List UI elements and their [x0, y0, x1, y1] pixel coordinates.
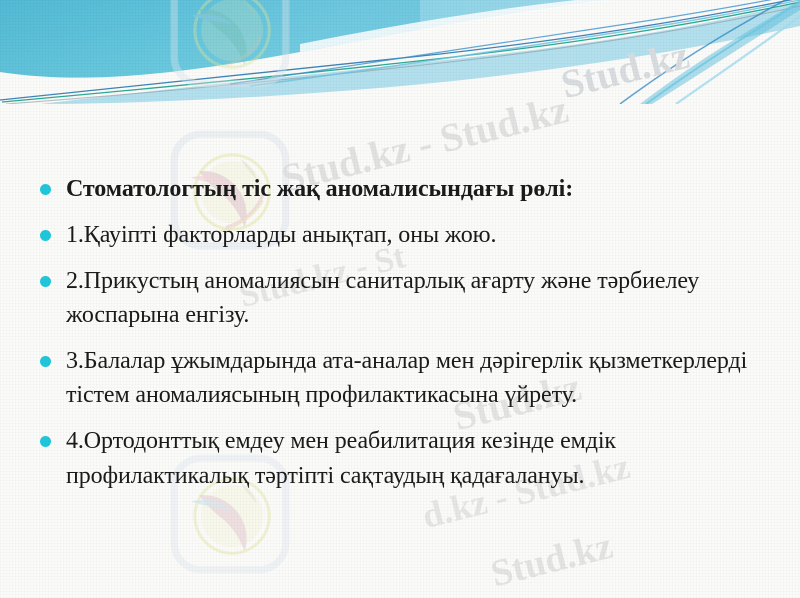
- slide-header-banner: [0, 0, 800, 104]
- presentation-slide: Stud.kz Stud.kz - Stud.kz Stud.kz - St S…: [0, 0, 800, 598]
- list-item: Стоматологтың тіс жақ аномалисындағы рөл…: [40, 172, 752, 206]
- list-item-text: 1.Қауіпті факторларды анықтап, оны жою.: [66, 218, 752, 252]
- list-item: 1.Қауіпті факторларды анықтап, оны жою.: [40, 218, 752, 252]
- list-item-text: 2.Прикустың аномалиясын санитарлық ағарт…: [66, 264, 752, 332]
- bullet-dot-icon: [40, 276, 51, 287]
- bullet-dot-icon: [40, 436, 51, 447]
- watermark-bottom: Stud.kz: [487, 524, 618, 597]
- list-item-text: 3.Балалар ұжымдарында ата-аналар мен дәр…: [66, 344, 752, 412]
- list-item: 2.Прикустың аномалиясын санитарлық ағарт…: [40, 264, 752, 332]
- list-item-text: 4.Ортодонттық емдеу мен реабилитация кез…: [66, 424, 752, 492]
- slide-body-content: Стоматологтың тіс жақ аномалисындағы рөл…: [40, 172, 752, 505]
- list-item: 3.Балалар ұжымдарында ата-аналар мен дәр…: [40, 344, 752, 412]
- bullet-dot-icon: [40, 230, 51, 241]
- list-item-text: Стоматологтың тіс жақ аномалисындағы рөл…: [66, 172, 752, 206]
- list-item: 4.Ортодонттық емдеу мен реабилитация кез…: [40, 424, 752, 492]
- bullet-dot-icon: [40, 184, 51, 195]
- bullet-dot-icon: [40, 356, 51, 367]
